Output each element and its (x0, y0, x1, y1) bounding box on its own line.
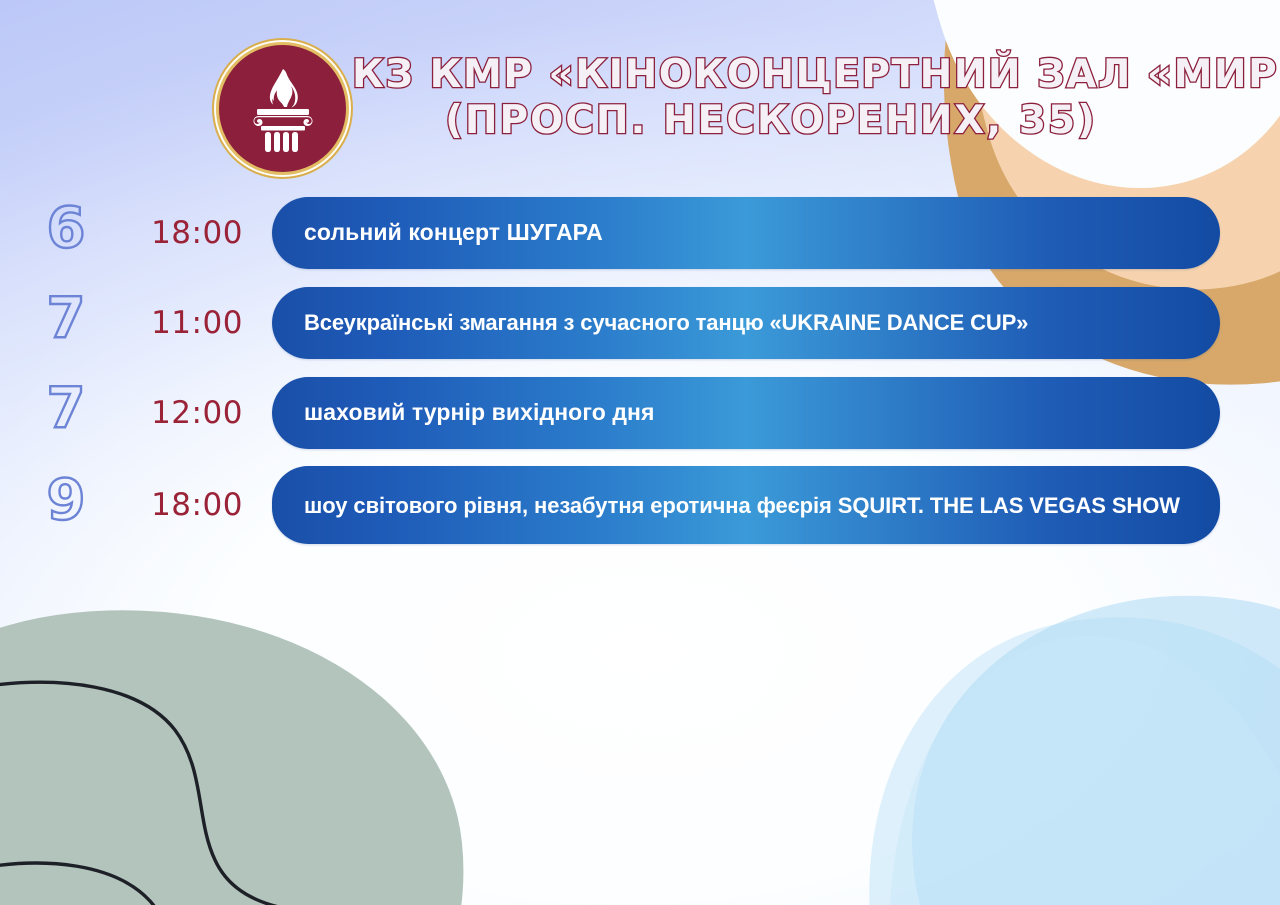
schedule-row: 9 18:00 шоу світового рівня, незабутня е… (0, 466, 1280, 544)
schedule-row: 7 12:00 шаховий турнір вихідного дня (0, 376, 1280, 449)
venue-title-line-2: (ПРОСП. НЕСКОРЕНИХ, 35) (352, 98, 1190, 144)
venue-title-line-1: КЗ КМР «КІНОКОНЦЕРТНИЙ ЗАЛ «МИР» (352, 52, 1190, 98)
decor-blob-bottom-left-sage-2 (0, 695, 238, 905)
event-day-number: 9 (0, 473, 122, 537)
event-bar[interactable]: сольний концерт ШУГАРА (272, 197, 1220, 269)
decor-blob-bottom-right-sky-3 (860, 614, 1280, 905)
event-bar[interactable]: шоу світового рівня, незабутня еротична … (272, 466, 1220, 544)
venue-logo (216, 42, 349, 175)
decor-curved-lines (0, 605, 560, 905)
event-time: 18:00 (122, 488, 272, 522)
event-title: сольний концерт ШУГАРА (304, 217, 603, 248)
schedule-list: 6 18:00 сольний концерт ШУГАРА 7 11:00 В… (0, 196, 1280, 561)
schedule-row: 7 11:00 Всеукраїнські змагання з сучасно… (0, 286, 1280, 359)
event-bar[interactable]: шаховий турнір вихідного дня (272, 377, 1220, 449)
schedule-row: 6 18:00 сольний концерт ШУГАРА (0, 196, 1280, 269)
event-bar[interactable]: Всеукраїнські змагання з сучасного танцю… (272, 287, 1220, 359)
decor-blob-bottom-right-sky-2 (798, 554, 1280, 905)
event-day-number: 6 (0, 201, 122, 265)
decor-blob-bottom-left-sage (0, 575, 492, 905)
event-title: шаховий турнір вихідного дня (304, 397, 655, 428)
venue-title: КЗ КМР «КІНОКОНЦЕРТНИЙ ЗАЛ «МИР» (ПРОСП.… (352, 52, 1190, 144)
event-time: 12:00 (122, 396, 272, 430)
event-day-number: 7 (0, 291, 122, 355)
decor-blob-bottom-right-sky-1 (869, 550, 1280, 905)
event-day-number: 7 (0, 381, 122, 445)
event-time: 11:00 (122, 306, 272, 340)
event-title: шоу світового рівня, незабутня еротична … (304, 490, 1180, 521)
event-time: 18:00 (122, 216, 272, 250)
poster-canvas: КЗ КМР «КІНОКОНЦЕРТНИЙ ЗАЛ «МИР» (ПРОСП.… (0, 0, 1280, 905)
flame-column-logo-icon (235, 61, 331, 157)
event-title: Всеукраїнські змагання з сучасного танцю… (304, 307, 1028, 338)
